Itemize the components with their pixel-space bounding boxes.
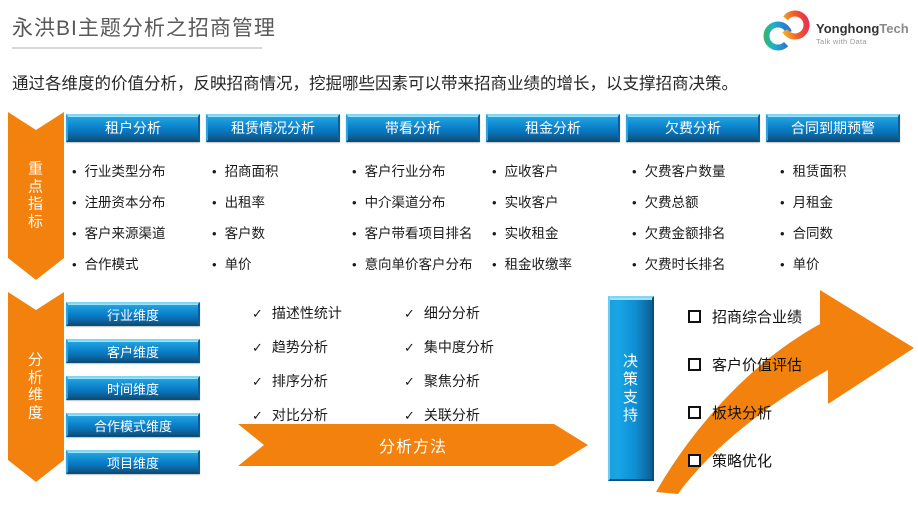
dimension-button-coop-model[interactable]: 合作模式维度 (66, 413, 200, 437)
title-underline-rule (12, 47, 262, 49)
list-item: 客户价值评估 (688, 354, 802, 375)
decision-char: 策 (623, 371, 639, 389)
checkbox-icon[interactable] (688, 310, 701, 323)
list-item: 关联分析 (404, 405, 494, 425)
logo-wordmark: YonghongTech Talk with Data (816, 22, 909, 46)
brand-logo: YonghongTech Talk with Data (762, 9, 912, 59)
ribbon-analysis-dimensions: 分 析 维 度 (8, 292, 64, 482)
ribbon-analysis-dimensions-label: 分 析 维 度 (8, 352, 64, 423)
category-button-tenant-analysis[interactable]: 租户分析 (66, 114, 200, 142)
ribbon-char: 析 (8, 369, 64, 387)
analysis-method-list-left: 描述性统计 趋势分析 排序分析 对比分析 (252, 303, 342, 439)
page-subtitle: 通过各维度的价值分析，反映招商情况，挖掘哪些因素可以带来招商业绩的增长，以支撑招… (12, 70, 738, 94)
page-title: 永洪BI主题分析之招商管理 (12, 12, 276, 42)
list-item: 聚焦分析 (404, 371, 494, 391)
logo-name-bold: Yonghong (816, 21, 879, 36)
list-item: 实收客户 (492, 191, 572, 211)
list-item: 应收客户 (492, 160, 572, 180)
list-item: 租金收缴率 (492, 253, 572, 273)
decision-support-box: 决 策 支 持 (608, 296, 654, 481)
list-item: 描述性统计 (252, 303, 342, 323)
list-item: 策略优化 (688, 450, 802, 471)
dimension-button-time[interactable]: 时间维度 (66, 376, 200, 400)
bullet-list-tenant-analysis: 行业类型分布 注册资本分布 客户来源渠道 合作模式 (72, 160, 166, 284)
bullet-list-lease-analysis: 招商面积 出租率 客户数 单价 (212, 160, 279, 284)
list-item: 细分分析 (404, 303, 494, 323)
yonghong-logo-icon (762, 9, 814, 53)
ribbon-char: 点 (8, 178, 64, 196)
list-item: 实收租金 (492, 222, 572, 242)
list-item: 意向单价客户分布 (352, 253, 473, 273)
logo-tagline: Talk with Data (816, 38, 909, 46)
bullet-list-arrears-analysis: 欠费客户数量 欠费总额 欠费金额排名 欠费时长排名 (632, 160, 726, 284)
dimension-button-project[interactable]: 项目维度 (66, 450, 200, 474)
list-item: 客户来源渠道 (72, 222, 166, 242)
list-item: 排序分析 (252, 371, 342, 391)
list-item: 合同数 (780, 222, 847, 242)
list-item: 单价 (212, 253, 279, 273)
bullet-list-viewing-analysis: 客户行业分布 中介渠道分布 客户带看项目排名 意向单价客户分布 (352, 160, 473, 284)
checkbox-icon[interactable] (688, 454, 701, 467)
ribbon-char: 分 (8, 352, 64, 370)
category-button-rent-analysis[interactable]: 租金分析 (486, 114, 620, 142)
ribbon-char: 指 (8, 196, 64, 214)
decision-support-label: 决 策 支 持 (623, 353, 639, 425)
decision-outcome-list: 招商综合业绩 客户价值评估 板块分析 策略优化 (688, 306, 802, 498)
decision-char: 决 (623, 353, 639, 371)
list-item: 客户数 (212, 222, 279, 242)
list-item: 单价 (780, 253, 847, 273)
analysis-method-list-right: 细分分析 集中度分析 聚焦分析 关联分析 (404, 303, 494, 439)
category-button-contract-expiry[interactable]: 合同到期预警 (766, 114, 900, 142)
ribbon-char: 重 (8, 161, 64, 179)
list-item-label: 板块分析 (712, 402, 772, 423)
list-item-label: 客户价值评估 (712, 354, 802, 375)
list-item: 月租金 (780, 191, 847, 211)
bullet-list-rent-analysis: 应收客户 实收客户 实收租金 租金收缴率 (492, 160, 572, 284)
list-item: 欠费金额排名 (632, 222, 726, 242)
ribbon-key-metrics-label: 重 点 指 标 (8, 161, 64, 232)
decision-char: 支 (623, 389, 639, 407)
ribbon-char: 度 (8, 405, 64, 423)
logo-name: YonghongTech (816, 22, 909, 35)
list-item: 欠费总额 (632, 191, 726, 211)
list-item: 中介渠道分布 (352, 191, 473, 211)
category-button-lease-analysis[interactable]: 租赁情况分析 (206, 114, 340, 142)
ribbon-char: 维 (8, 387, 64, 405)
list-item: 欠费客户数量 (632, 160, 726, 180)
list-item: 客户带看项目排名 (352, 222, 473, 242)
dimension-button-industry[interactable]: 行业维度 (66, 302, 200, 326)
list-item: 租赁面积 (780, 160, 847, 180)
list-item: 招商面积 (212, 160, 279, 180)
list-item: 客户行业分布 (352, 160, 473, 180)
logo-name-light: Tech (879, 21, 908, 36)
list-item: 趋势分析 (252, 337, 342, 357)
decision-char: 持 (623, 407, 639, 425)
list-item: 合作模式 (72, 253, 166, 273)
list-item: 出租率 (212, 191, 279, 211)
list-item: 对比分析 (252, 405, 342, 425)
analysis-method-banner: 分析方法 (238, 424, 588, 466)
list-item-label: 招商综合业绩 (712, 306, 802, 327)
checkbox-icon[interactable] (688, 406, 701, 419)
list-item-label: 策略优化 (712, 450, 772, 471)
list-item: 招商综合业绩 (688, 306, 802, 327)
ribbon-key-metrics: 重 点 指 标 (8, 112, 64, 280)
checkbox-icon[interactable] (688, 358, 701, 371)
list-item: 集中度分析 (404, 337, 494, 357)
category-button-arrears-analysis[interactable]: 欠费分析 (626, 114, 760, 142)
list-item: 欠费时长排名 (632, 253, 726, 273)
bullet-list-contract-expiry: 租赁面积 月租金 合同数 单价 (780, 160, 847, 284)
category-button-viewing-analysis[interactable]: 带看分析 (346, 114, 480, 142)
list-item: 注册资本分布 (72, 191, 166, 211)
list-item: 行业类型分布 (72, 160, 166, 180)
dimension-button-customer[interactable]: 客户维度 (66, 339, 200, 363)
list-item: 板块分析 (688, 402, 802, 423)
ribbon-char: 标 (8, 214, 64, 232)
